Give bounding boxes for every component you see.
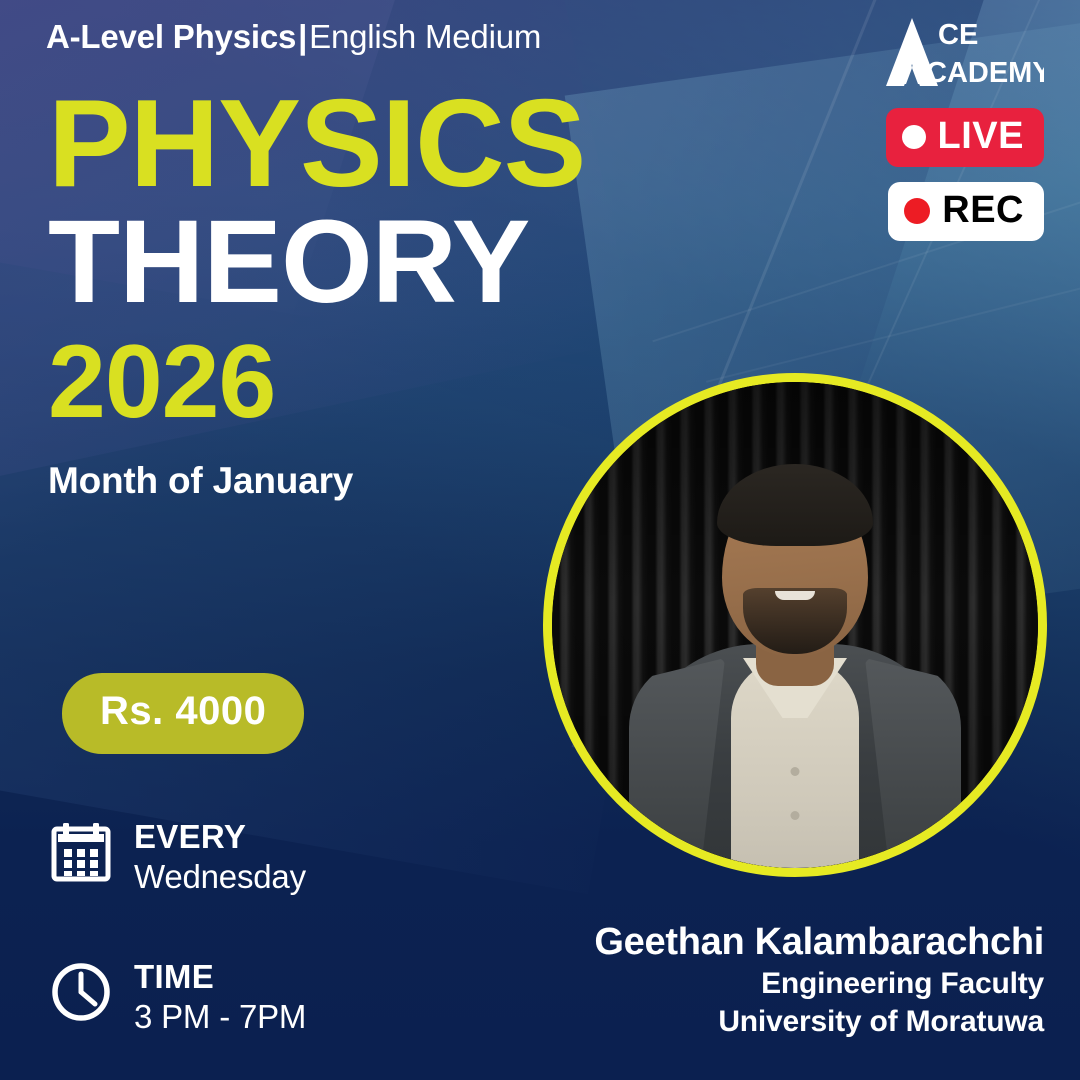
schedule-time-row: TIME 3 PM - 7PM — [50, 958, 306, 1037]
clock-icon — [50, 961, 112, 1028]
schedule-time-title: TIME — [134, 958, 306, 997]
ace-academy-logo: CE CADEMY — [882, 14, 1044, 90]
schedule-day-value: Wednesday — [134, 857, 306, 897]
hero-line-theory: THEORY — [48, 205, 585, 321]
rec-label: REC — [942, 189, 1024, 232]
live-badge: LIVE — [886, 108, 1044, 167]
person-mouth — [775, 591, 815, 600]
person-shirt-button-1 — [791, 767, 800, 776]
calendar-icon — [50, 821, 112, 888]
rec-badge: REC — [888, 182, 1044, 241]
instructor-photo-inner — [552, 382, 1038, 868]
background-streak-4 — [706, 279, 1080, 383]
logo-line-1: CE — [938, 19, 978, 51]
logo-line-2: CADEMY — [926, 57, 1044, 89]
instructor-name: Geethan Kalambarachchi — [594, 920, 1044, 965]
hero-line-physics: PHYSICS — [48, 86, 585, 203]
schedule-time-text: TIME 3 PM - 7PM — [134, 958, 306, 1037]
live-label: LIVE — [938, 115, 1024, 158]
header-course-name: A-Level Physics — [46, 18, 296, 55]
rec-dot-icon — [904, 198, 930, 224]
person-hair — [717, 464, 873, 546]
instructor-details: Geethan Kalambarachchi Engineering Facul… — [594, 920, 1044, 1042]
instructor-university: University of Moratuwa — [594, 1003, 1044, 1041]
instructor-photo — [543, 373, 1047, 877]
poster-canvas: A-Level Physics|English Medium CE CADEMY… — [0, 0, 1080, 1080]
person-shirt-button-2 — [791, 811, 800, 820]
hero-line-year: 2026 — [48, 330, 585, 434]
hero-title-block: PHYSICS THEORY 2026 Month of January — [48, 86, 585, 502]
header-separator: | — [296, 18, 309, 55]
hero-subtitle: Month of January — [48, 460, 585, 502]
price-badge: Rs. 4000 — [62, 673, 304, 754]
schedule-day-row: EVERY Wednesday — [50, 818, 306, 897]
live-dot-icon — [902, 125, 926, 149]
photo-person — [552, 382, 1038, 868]
header-course-line: A-Level Physics|English Medium — [46, 18, 541, 56]
instructor-faculty: Engineering Faculty — [594, 965, 1044, 1003]
schedule-day-title: EVERY — [134, 818, 306, 857]
header-medium: English Medium — [309, 18, 541, 55]
schedule-day-text: EVERY Wednesday — [134, 818, 306, 897]
schedule-time-value: 3 PM - 7PM — [134, 997, 306, 1037]
